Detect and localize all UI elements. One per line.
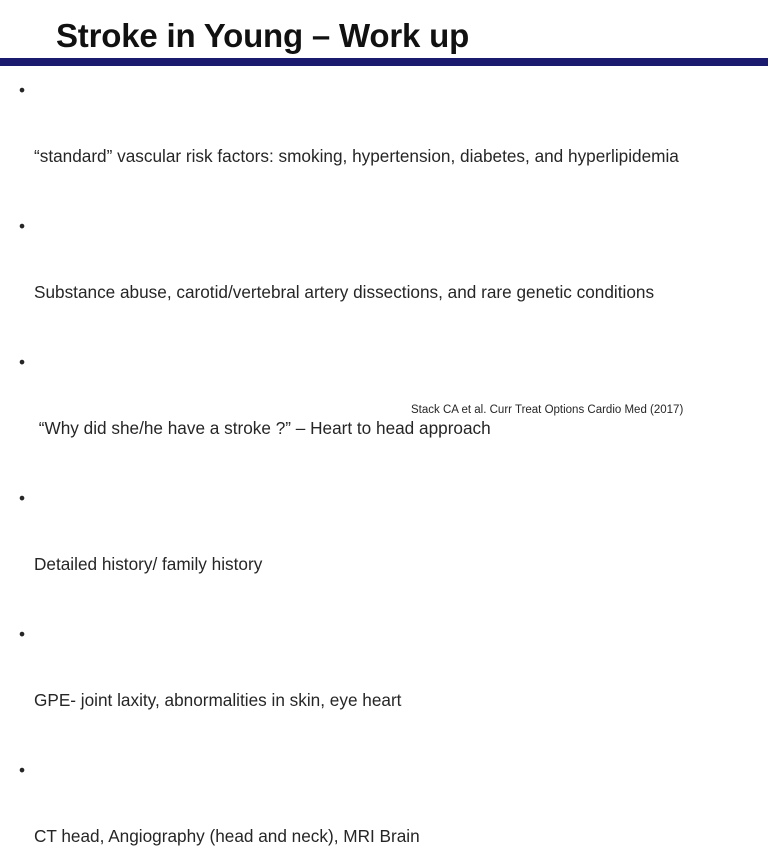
bullet-dot-icon: • xyxy=(19,215,25,237)
list-item: • “standard” vascular risk factors: smok… xyxy=(14,79,766,211)
presentation-slide: Stroke in Young – Work up • “standard” v… xyxy=(0,0,768,432)
bullet-dot-icon: • xyxy=(19,351,25,373)
list-item-label: GPE- joint laxity, abnormalities in skin… xyxy=(34,689,766,711)
list-item: • Substance abuse, carotid/vertebral art… xyxy=(14,215,766,347)
bullet-dot-icon: • xyxy=(19,79,25,101)
list-item: • CT head, Angiography (head and neck), … xyxy=(14,759,766,864)
list-item-label: Detailed history/ family history xyxy=(34,553,766,575)
list-item: • Detailed history/ family history xyxy=(14,487,766,619)
bullet-dot-icon: • xyxy=(19,759,25,781)
list-item-label: “standard” vascular risk factors: smokin… xyxy=(34,145,766,167)
slide-title-block: Stroke in Young – Work up xyxy=(0,0,768,66)
list-item-label: CT head, Angiography (head and neck), MR… xyxy=(34,825,766,847)
bullet-dot-icon: • xyxy=(19,487,25,509)
source-citation: Stack CA et al. Curr Treat Options Cardi… xyxy=(411,402,683,418)
title-divider-rule xyxy=(0,58,768,66)
bullet-list: • “standard” vascular risk factors: smok… xyxy=(14,79,766,864)
list-item-label: Substance abuse, carotid/vertebral arter… xyxy=(34,281,766,303)
list-item: • GPE- joint laxity, abnormalities in sk… xyxy=(14,623,766,755)
page-title: Stroke in Young – Work up xyxy=(56,16,469,56)
list-item-label: “Why did she/he have a stroke ?” – Heart… xyxy=(34,417,766,439)
bullet-dot-icon: • xyxy=(19,623,25,645)
